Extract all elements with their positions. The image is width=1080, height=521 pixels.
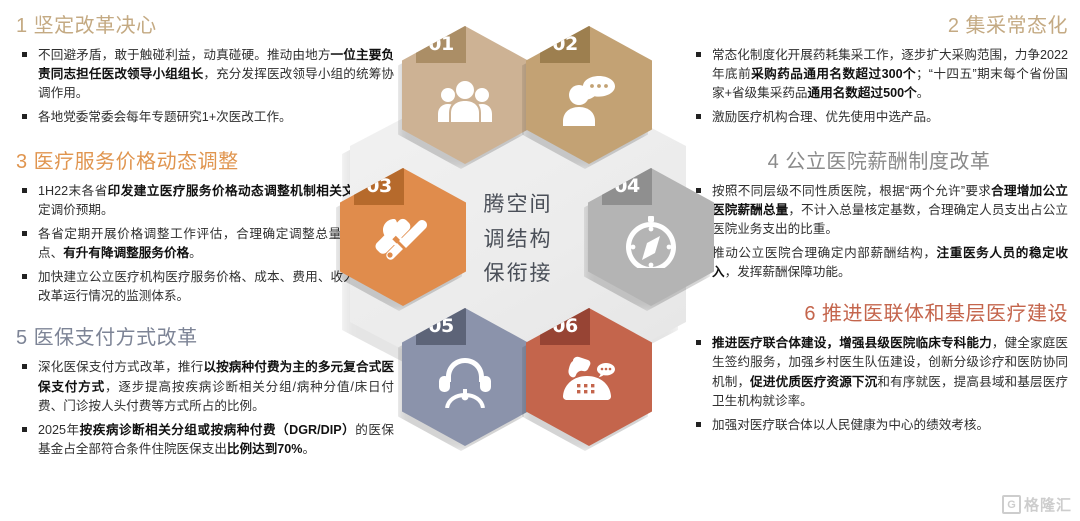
bullet-item: 加强对医疗联合体以人民健康为中心的绩效考核。 xyxy=(690,416,1068,435)
section-2-title: 2 集采常态化 xyxy=(690,14,1068,39)
hexagon-cluster: 腾空间调结构保衔接 01 02 03 04 05 06 xyxy=(332,26,704,446)
bullet-item: 按照不同层级不同性质医院，根据“两个允许”要求合理增加公立医院薪酬总量，不计入总… xyxy=(690,182,1068,239)
section-6: 6 推进医联体和基层医疗建设 推进医疗联合体建设，增强县级医院临床专科能力，健全… xyxy=(690,302,1068,435)
bullet-item: 推进医疗联合体建设，增强县级医院临床专科能力，健全家庭医生签约服务，加强乡村医生… xyxy=(690,334,1068,411)
center-slogan: 腾空间调结构保衔接 xyxy=(450,188,586,292)
people-group-icon xyxy=(402,74,528,131)
center-slogan-line: 调结构 xyxy=(450,223,586,258)
hexagon-number-tab: 01 xyxy=(416,26,466,63)
section-4-bullets: 按照不同层级不同性质医院，根据“两个允许”要求合理增加公立医院薪酬总量，不计入总… xyxy=(690,182,1068,283)
section-4: 4 公立医院薪酬制度改革 按照不同层级不同性质医院，根据“两个允许”要求合理增加… xyxy=(690,150,1068,283)
bullet-item: 激励医疗机构合理、优先使用中选产品。 xyxy=(690,108,1068,127)
bullet-item: 常态化制度化开展药耗集采工作，逐步扩大采购范围，力争2022年底前采购药品通用名… xyxy=(690,46,1068,103)
section-2-bullets: 常态化制度化开展药耗集采工作，逐步扩大采购范围，力争2022年底前采购药品通用名… xyxy=(690,46,1068,128)
section-6-bullets: 推进医疗联合体建设，增强县级医院临床专科能力，健全家庭医生签约服务，加强乡村医生… xyxy=(690,334,1068,435)
telephone-chat-icon xyxy=(526,356,652,413)
wrench-screwdriver-icon xyxy=(340,216,466,273)
right-column: 2 集采常态化 常态化制度化开展药耗集采工作，逐步扩大采购范围，力争2022年底… xyxy=(690,14,1068,445)
infographic-slide: 1 坚定改革决心 不回避矛盾，敢于触碰利益，动真碰硬。推动由地方一位主要负责同志… xyxy=(0,0,1080,521)
watermark-logo: G 格隆汇 xyxy=(1002,494,1072,515)
center-slogan-line: 腾空间 xyxy=(450,188,586,223)
watermark-mark-icon: G xyxy=(1002,495,1021,514)
section-6-title: 6 推进医联体和基层医疗建设 xyxy=(690,302,1068,327)
section-2: 2 集采常态化 常态化制度化开展药耗集采工作，逐步扩大采购范围，力争2022年底… xyxy=(690,14,1068,128)
person-speech-bubble-icon xyxy=(526,74,652,131)
compass-icon xyxy=(588,216,714,273)
center-slogan-line: 保衔接 xyxy=(450,257,586,292)
bullet-item: 推动公立医院合理确定内部薪酬结构，注重医务人员的稳定收入，发挥薪酬保障功能。 xyxy=(690,244,1068,282)
headset-support-icon xyxy=(402,356,528,413)
hexagon-number-tab: 02 xyxy=(540,26,590,63)
section-4-title: 4 公立医院薪酬制度改革 xyxy=(690,150,1068,175)
watermark-text: 格隆汇 xyxy=(1024,494,1072,515)
